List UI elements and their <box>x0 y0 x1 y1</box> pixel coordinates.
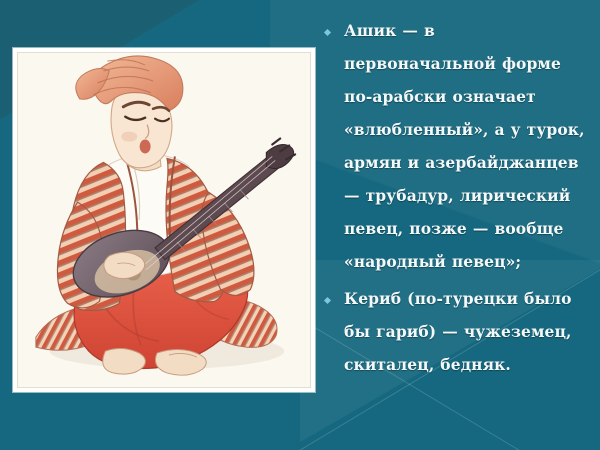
musician-illustration <box>17 52 311 388</box>
musician-illustration-svg <box>18 53 310 387</box>
list-item: Кериб (по-турецки было бы гариб) — чужез… <box>320 282 592 381</box>
diamond-bullet-icon <box>324 29 331 36</box>
picture-frame <box>13 48 315 392</box>
bullet-text-ashik: Ашик — в первоначальной форме по-арабски… <box>344 14 592 278</box>
bullet-list: Ашик — в первоначальной форме по-арабски… <box>320 14 592 434</box>
bullet-text-kerib: Кериб (по-турецки было бы гариб) — чужез… <box>344 282 592 381</box>
list-item: Ашик — в первоначальной форме по-арабски… <box>320 14 592 278</box>
slide-canvas: Ашик — в первоначальной форме по-арабски… <box>0 0 600 450</box>
diamond-bullet-icon <box>324 297 331 304</box>
